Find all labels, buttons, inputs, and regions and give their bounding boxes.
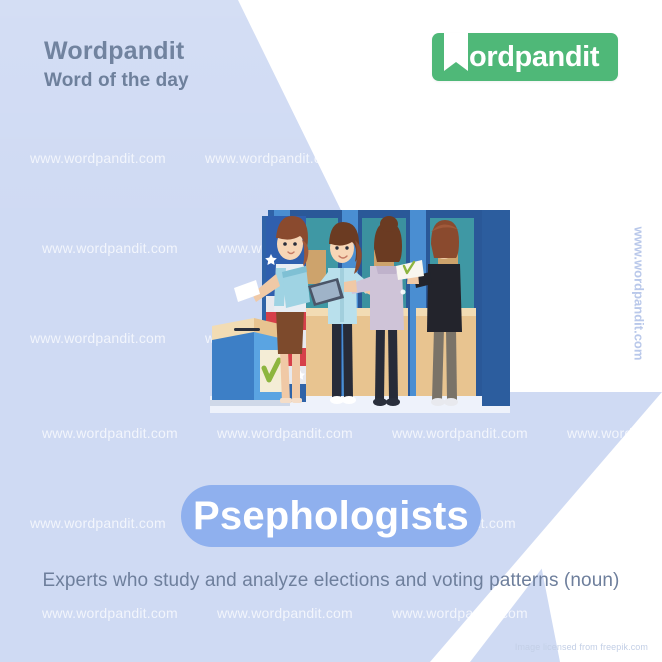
page-subtitle: Word of the day [44,70,189,93]
watermark-text: www.wordpandit.com [392,425,528,441]
word-term: Psephologists [193,496,469,536]
watermark-text: www.wordpandit.com [42,240,178,256]
bookmark-w-icon [440,33,472,81]
watermark-text: www.wordpandit.com [217,605,353,621]
polling-station-illustration [210,210,510,413]
header-text-block: Wordpandit Word of the day [44,38,189,92]
logo-text: ordpandit [469,43,613,72]
image-credit: Image licensed from freepik.com [515,642,648,652]
wordpandit-logo[interactable]: ordpandit [432,33,618,81]
word-of-the-day-card: www.wordpandit.comwww.wordpandit.comwww.… [0,0,662,662]
watermark-text: www.wordpandit.com [30,150,166,166]
watermark-side-label: www.wordpandit.com [632,227,647,361]
watermark-text: www.wordpandit.com [217,425,353,441]
watermark-text: www.wordpandit.com [30,330,166,346]
watermark-text: www.wordpandit.com [42,425,178,441]
watermark-text: www.wordpandit.com [30,515,166,531]
brand-title: Wordpandit [44,38,189,66]
watermark-text: www.wordpandit.com [42,605,178,621]
word-of-the-day-pill: Psephologists [181,485,481,547]
word-definition: Experts who study and analyze elections … [0,570,662,592]
